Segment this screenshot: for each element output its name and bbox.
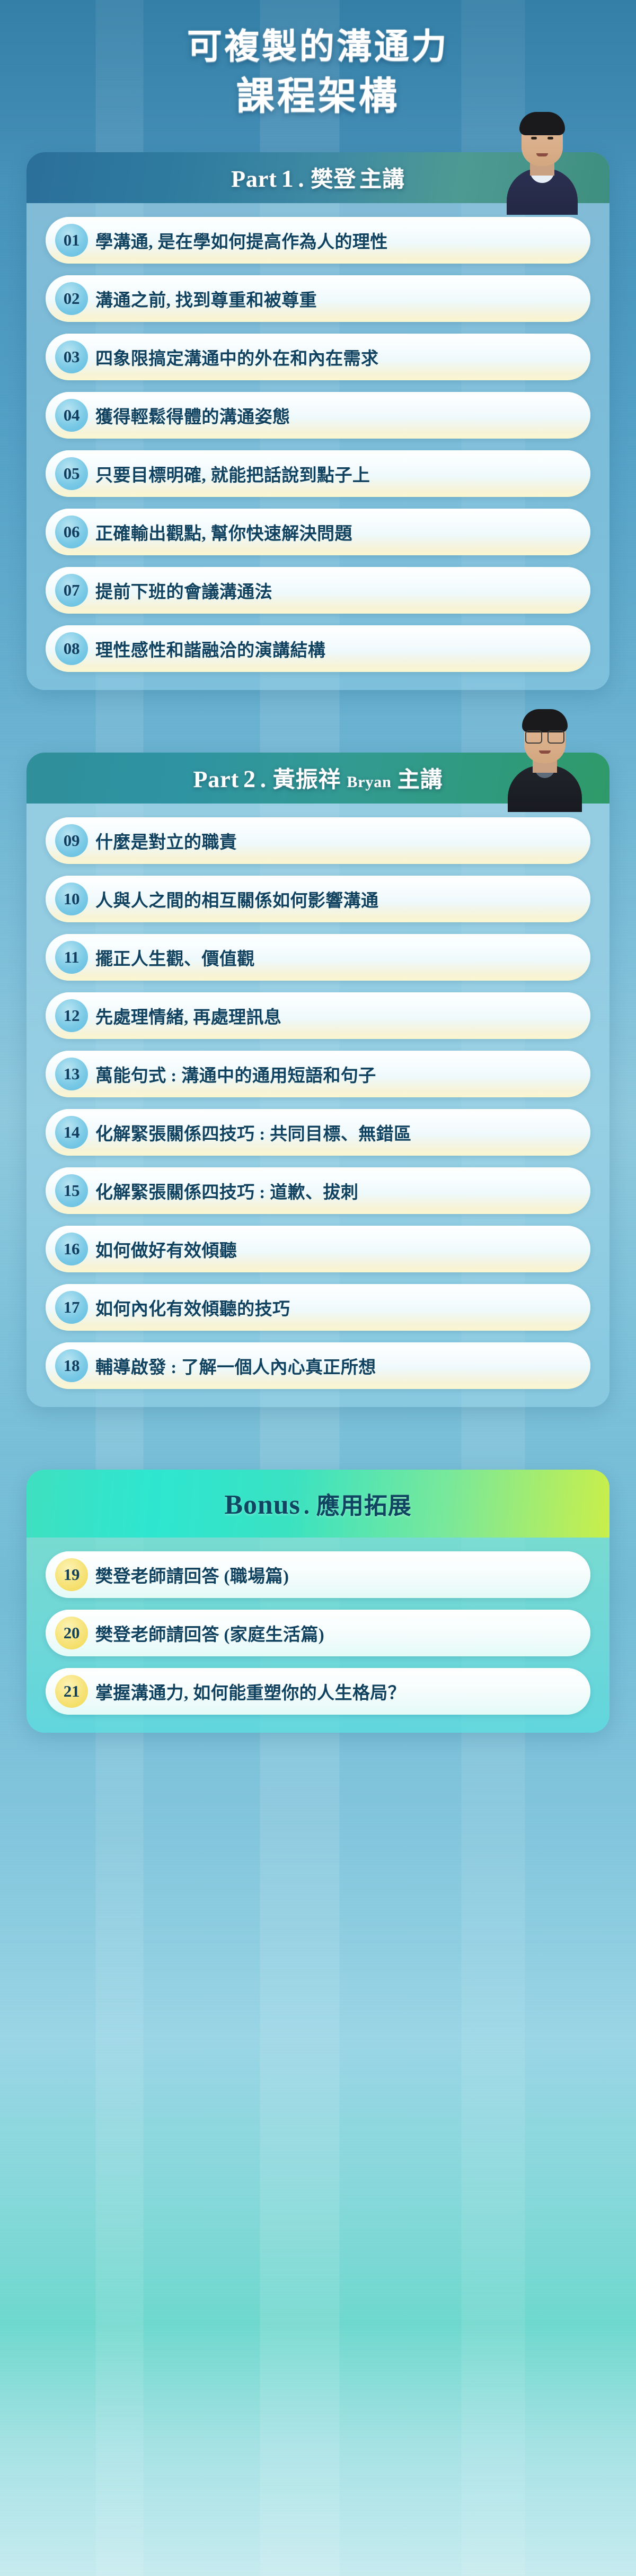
bonus-label: Bonus: [224, 1489, 301, 1521]
part-presenter-name: 黃振祥: [273, 762, 341, 794]
course-item-title: 如何做好有效傾聽: [95, 1236, 237, 1262]
course-item-number: 02: [55, 282, 88, 315]
course-item-title: 樊登老師請回答 (職場篇): [95, 1562, 289, 1587]
course-item[interactable]: 19 樊登老師請回答 (職場篇): [46, 1551, 590, 1598]
course-item-title: 什麼是對立的職責: [95, 828, 237, 853]
course-item-title: 擺正人生觀、價值觀: [95, 945, 255, 970]
course-item-number: 19: [55, 1558, 88, 1591]
course-item-number: 14: [55, 1116, 88, 1149]
course-item-number: 05: [55, 457, 88, 490]
course-item-title: 化解緊張關係四技巧 : 道歉、拔刺: [95, 1178, 358, 1203]
course-item[interactable]: 09 什麼是對立的職責: [46, 817, 590, 864]
course-item-number: 10: [55, 883, 88, 915]
part-dot: .: [260, 766, 267, 793]
course-item[interactable]: 17 如何內化有效傾聽的技巧: [46, 1284, 590, 1331]
part-2-panel: Part 2 . 黃振祥 Bryan 主講 09 什麼是對立的職責 10 人與人…: [26, 753, 609, 1407]
part-number: 1: [280, 164, 295, 193]
course-item-title: 四象限搞定溝通中的外在和內在需求: [95, 344, 378, 370]
course-item[interactable]: 12 先處理情緒, 再處理訊息: [46, 992, 590, 1039]
portrait-hair: [522, 709, 568, 732]
course-item[interactable]: 05 只要目標明確, 就能把話說到點子上: [46, 450, 590, 497]
course-item[interactable]: 16 如何做好有效傾聽: [46, 1226, 590, 1272]
part-2-header: Part 2 . 黃振祥 Bryan 主講: [26, 753, 609, 804]
bonus-panel: Bonus . 應用拓展 19 樊登老師請回答 (職場篇) 20 樊登老師請回答…: [26, 1470, 609, 1733]
part-label: Part: [231, 165, 277, 193]
poster-title-line-2: 課程架構: [0, 75, 636, 118]
part-presenter-name-english: Bryan: [347, 773, 391, 791]
course-item-number: 11: [55, 941, 88, 974]
course-item-title: 理性感性和諧融洽的演講結構: [95, 636, 325, 661]
bonus-header: Bonus . 應用拓展: [26, 1470, 609, 1538]
part-1-item-list: 01 學溝通, 是在學如何提高作為人的理性 02 溝通之前, 找到尊重和被尊重 …: [26, 203, 609, 690]
course-item-title: 輔導啟發 : 了解一個人內心真正所想: [95, 1353, 376, 1378]
section-part-2: Part 2 . 黃振祥 Bryan 主講 09 什麼是對立的職責 10 人與人…: [26, 753, 609, 1407]
course-item-number: 13: [55, 1058, 88, 1090]
part-presenter-name: 樊登: [311, 161, 356, 194]
course-item-title: 掌握溝通力, 如何能重塑你的人生格局？: [95, 1679, 405, 1704]
part-2-header-title: Part 2 . 黃振祥 Bryan 主講: [193, 762, 443, 794]
portrait-eye-right: [547, 137, 553, 139]
course-item-title: 學溝通, 是在學如何提高作為人的理性: [95, 228, 388, 253]
course-item-title: 先處理情緒, 再處理訊息: [95, 1003, 281, 1028]
poster-title-line-1: 可複製的溝通力: [0, 28, 636, 67]
part-1-header: Part 1 . 樊登 主講: [26, 152, 609, 203]
bonus-subtitle: 應用拓展: [316, 1487, 412, 1521]
course-item-title: 提前下班的會議溝通法: [95, 578, 272, 603]
course-item-number: 18: [55, 1349, 88, 1382]
portrait-eye-left: [531, 137, 537, 139]
course-item-title: 如何內化有效傾聽的技巧: [95, 1295, 290, 1320]
course-item[interactable]: 04 獲得輕鬆得體的溝通姿態: [46, 392, 590, 439]
course-item[interactable]: 15 化解緊張關係四技巧 : 道歉、拔刺: [46, 1167, 590, 1214]
part-number: 2: [242, 765, 257, 793]
course-item-number: 20: [55, 1617, 88, 1649]
course-item-title: 溝通之前, 找到尊重和被尊重: [95, 286, 317, 311]
course-item-title: 樊登老師請回答 (家庭生活篇): [95, 1620, 324, 1646]
course-item-number: 08: [55, 632, 88, 665]
part-1-panel: Part 1 . 樊登 主講 01 學溝通, 是在學如何提高作為人的理性 02 …: [26, 152, 609, 690]
course-item-number: 09: [55, 824, 88, 857]
poster-page: 可複製的溝通力 課程架構 Part 1 . 樊登: [0, 0, 636, 1733]
section-part-1: Part 1 . 樊登 主講 01 學溝通, 是在學如何提高作為人的理性 02 …: [26, 152, 609, 690]
course-item-number: 16: [55, 1233, 88, 1265]
course-item[interactable]: 21 掌握溝通力, 如何能重塑你的人生格局？: [46, 1668, 590, 1715]
course-item[interactable]: 07 提前下班的會議溝通法: [46, 567, 590, 614]
part-dot: .: [298, 165, 305, 193]
part-presenter-suffix: 主講: [397, 762, 443, 794]
part-presenter-suffix: 主講: [359, 161, 405, 194]
course-item-number: 01: [55, 224, 88, 257]
course-item-number: 21: [55, 1675, 88, 1708]
bonus-dot: .: [304, 1492, 310, 1520]
course-item[interactable]: 10 人與人之間的相互關係如何影響溝通: [46, 876, 590, 922]
course-item-number: 12: [55, 999, 88, 1032]
course-item[interactable]: 01 學溝通, 是在學如何提高作為人的理性: [46, 217, 590, 264]
section-bonus: Bonus . 應用拓展 19 樊登老師請回答 (職場篇) 20 樊登老師請回答…: [26, 1470, 609, 1733]
course-item[interactable]: 06 正確輸出觀點, 幫你快速解決問題: [46, 509, 590, 555]
course-item-number: 15: [55, 1174, 88, 1207]
bonus-item-list: 19 樊登老師請回答 (職場篇) 20 樊登老師請回答 (家庭生活篇) 21 掌…: [26, 1538, 609, 1733]
course-item-title: 正確輸出觀點, 幫你快速解決問題: [95, 519, 352, 545]
course-item[interactable]: 02 溝通之前, 找到尊重和被尊重: [46, 275, 590, 322]
course-item[interactable]: 20 樊登老師請回答 (家庭生活篇): [46, 1610, 590, 1656]
part-1-header-title: Part 1 . 樊登 主講: [231, 161, 405, 194]
course-item[interactable]: 14 化解緊張關係四技巧 : 共同目標、無錯區: [46, 1109, 590, 1156]
part-2-item-list: 09 什麼是對立的職責 10 人與人之間的相互關係如何影響溝通 11 擺正人生觀…: [26, 804, 609, 1407]
bonus-header-title: Bonus . 應用拓展: [224, 1487, 411, 1521]
course-item-number: 07: [55, 574, 88, 607]
course-item[interactable]: 03 四象限搞定溝通中的外在和內在需求: [46, 334, 590, 380]
portrait-glasses: [525, 730, 564, 742]
poster-header: 可複製的溝通力 課程架構: [0, 0, 636, 118]
course-item-title: 萬能句式 : 溝通中的通用短語和句子: [95, 1061, 376, 1087]
course-item[interactable]: 18 輔導啟發 : 了解一個人內心真正所想: [46, 1342, 590, 1389]
course-item[interactable]: 08 理性感性和諧融洽的演講結構: [46, 625, 590, 672]
course-item-number: 06: [55, 516, 88, 548]
course-item[interactable]: 11 擺正人生觀、價值觀: [46, 934, 590, 981]
course-item-number: 17: [55, 1291, 88, 1324]
course-item-title: 化解緊張關係四技巧 : 共同目標、無錯區: [95, 1120, 411, 1145]
course-item[interactable]: 13 萬能句式 : 溝通中的通用短語和句子: [46, 1051, 590, 1097]
course-item-title: 人與人之間的相互關係如何影響溝通: [95, 886, 378, 912]
part-label: Part: [193, 766, 240, 793]
course-item-number: 03: [55, 340, 88, 373]
course-item-title: 獲得輕鬆得體的溝通姿態: [95, 403, 290, 428]
course-item-title: 只要目標明確, 就能把話說到點子上: [95, 461, 370, 486]
course-item-number: 04: [55, 399, 88, 432]
